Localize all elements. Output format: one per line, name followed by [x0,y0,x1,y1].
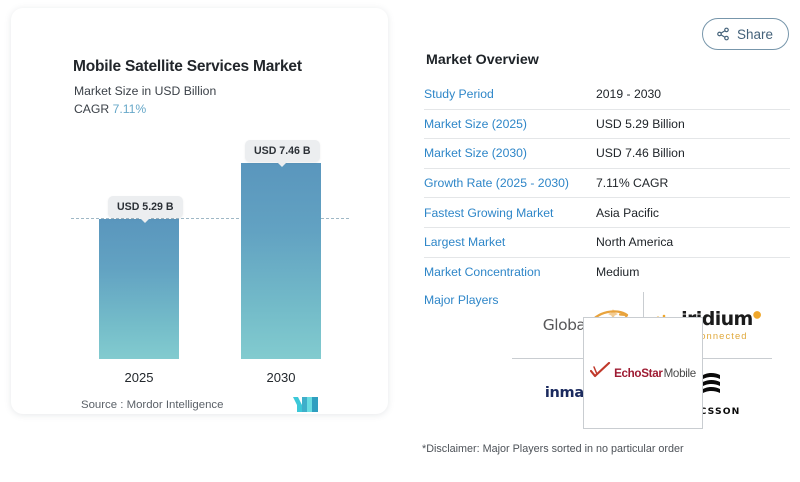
x-tick-2030: 2030 [226,370,336,385]
row-label: Growth Rate (2025 - 2030) [424,176,596,190]
market-report-page: Mobile Satellite Services Market Market … [0,0,800,482]
row-value: North America [596,235,673,249]
market-overview-title: Market Overview [426,52,539,68]
share-button-label: Share [737,27,773,42]
bar-label-2030: USD 7.46 B [245,140,320,162]
player-cell-echostar-mobile: EchoStar Mobile [583,317,703,429]
bar-label-2025: USD 5.29 B [108,196,183,218]
source-label: Source : Mordor Intelligence [81,399,223,411]
echostar-wordmark: EchoStar [614,367,663,380]
row-label: Fastest Growing Market [424,206,596,220]
mordor-intelligence-logo [293,396,319,413]
echostar-check-icon [590,362,612,385]
x-tick-2025: 2025 [84,370,194,385]
iridium-registered-icon: ● [753,309,761,320]
major-players-label: Major Players [424,293,499,307]
echostar-mobile-logo: EchoStar Mobile [590,362,696,385]
bar-2025[interactable] [99,219,179,359]
table-row: Fastest Growing Market Asia Pacific [424,198,790,228]
row-value: 7.11% CAGR [596,176,668,190]
row-label: Largest Market [424,235,596,249]
table-row: Growth Rate (2025 - 2030) 7.11% CAGR [424,169,790,199]
bar-chart-plot: USD 5.29 B USD 7.46 B 2025 2030 [11,8,388,414]
chart-card: Mobile Satellite Services Market Market … [11,8,388,414]
echostar-mobile-wordmark: Mobile [664,367,696,380]
market-overview-table: Study Period 2019 - 2030 Market Size (20… [424,80,790,286]
bar-2030[interactable] [241,163,321,359]
row-value: USD 5.29 Billion [596,117,685,131]
table-row: Market Concentration Medium [424,258,790,287]
row-label: Market Size (2025) [424,117,596,131]
row-value: 2019 - 2030 [596,87,661,101]
row-label: Market Size (2030) [424,146,596,160]
disclaimer-text: *Disclaimer: Major Players sorted in no … [422,443,684,455]
table-row: Market Size (2025) USD 5.29 Billion [424,110,790,140]
row-value: Asia Pacific [596,206,659,220]
row-label: Market Concentration [424,265,596,279]
share-button[interactable]: Share [702,18,789,50]
row-value: USD 7.46 Billion [596,146,685,160]
row-label: Study Period [424,87,596,101]
table-row: Largest Market North America [424,228,790,258]
table-row: Market Size (2030) USD 7.46 Billion [424,139,790,169]
share-nodes-icon [716,27,730,41]
major-players-grid: Globalstar [512,292,772,427]
table-row: Study Period 2019 - 2030 [424,80,790,110]
row-value: Medium [596,265,639,279]
